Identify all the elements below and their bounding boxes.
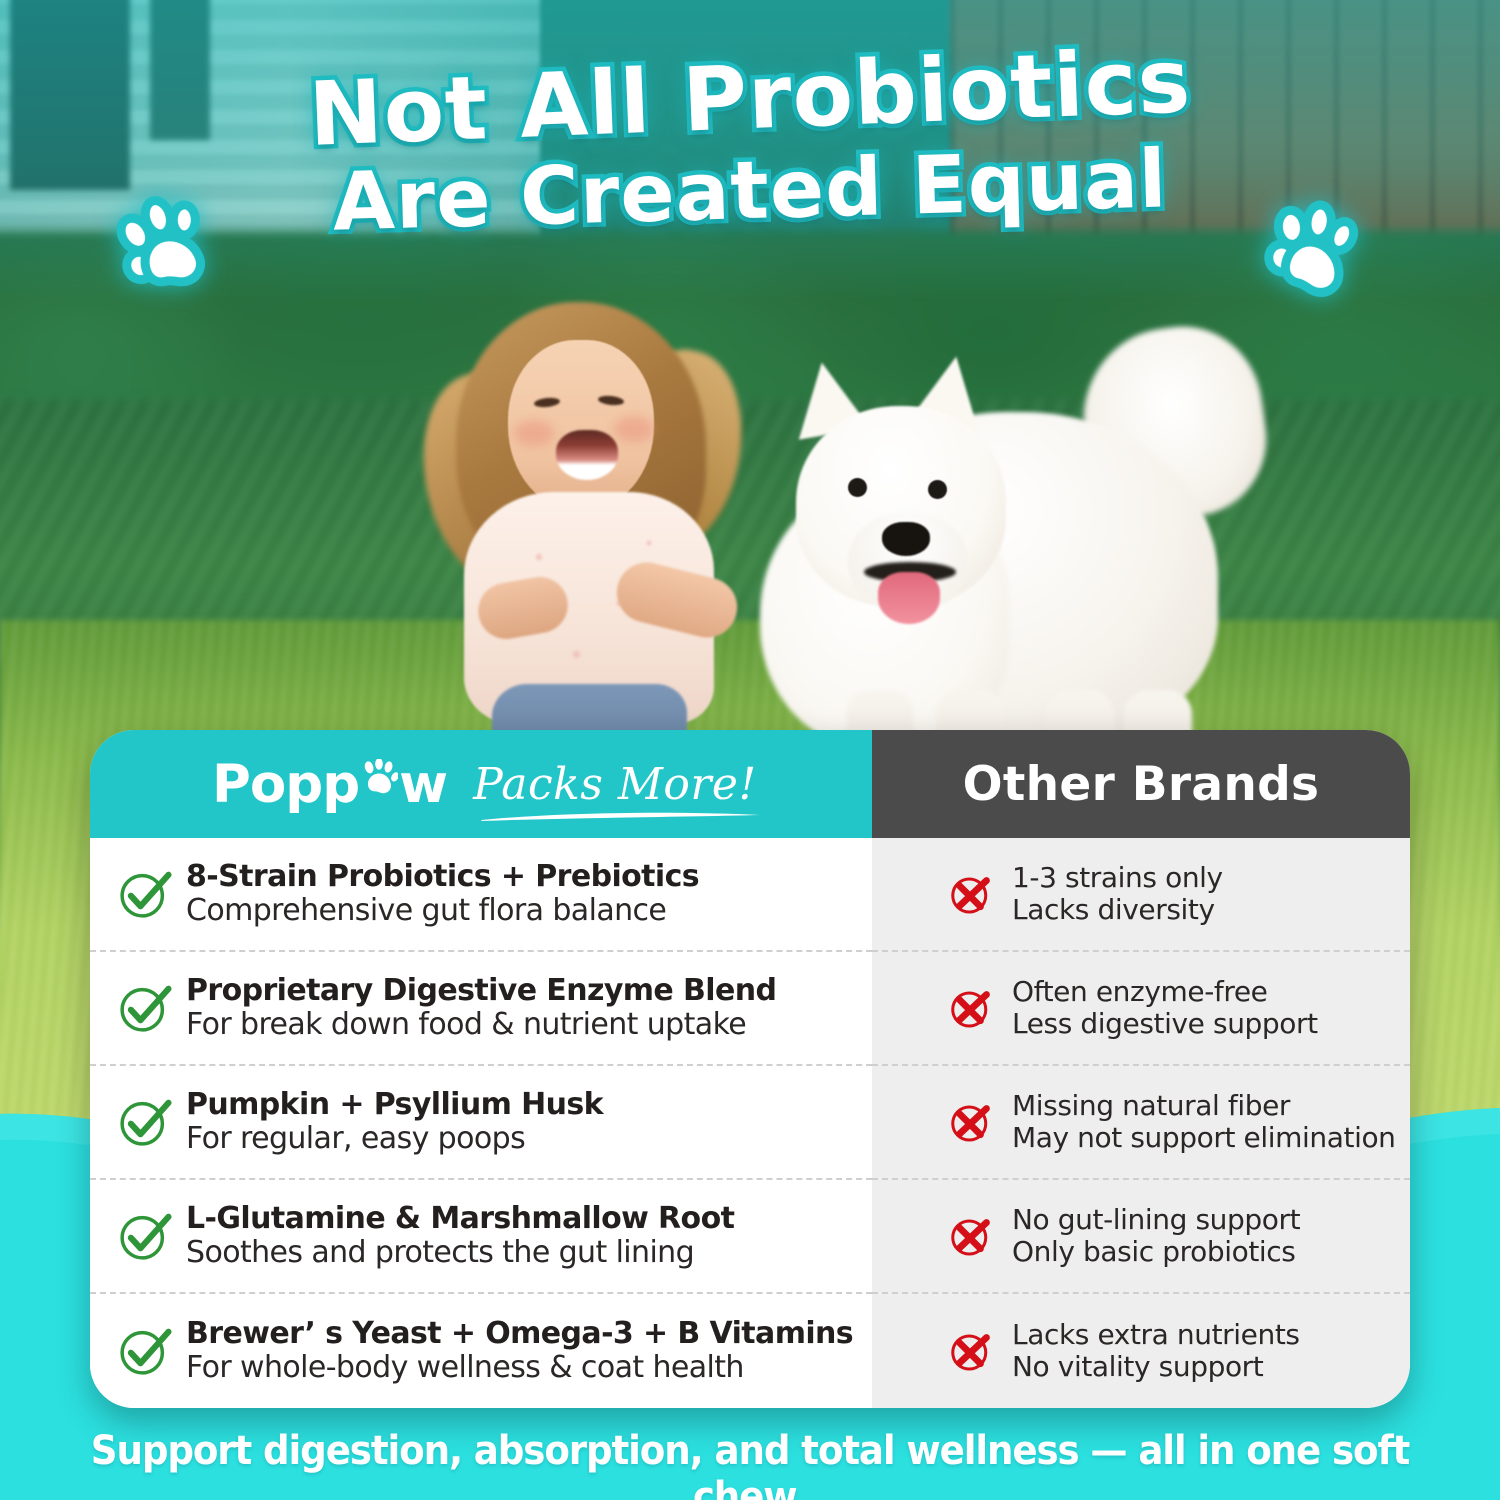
competitor-line-1: 1-3 strains only — [1012, 862, 1223, 894]
competitor-header: Other Brands — [872, 730, 1410, 838]
brand-tagline-wrap: Packs More! — [473, 759, 757, 810]
feature-text: 8-Strain Probiotics + Prebiotics Compreh… — [186, 860, 699, 928]
x-circle-icon — [946, 1098, 994, 1146]
competitor-line-2: Only basic probiotics — [1012, 1236, 1300, 1268]
feature-title: Proprietary Digestive Enzyme Blend — [186, 974, 776, 1008]
x-circle-icon — [946, 870, 994, 918]
dog-eye-left — [848, 478, 867, 497]
brand-logo: Popp w — [212, 754, 447, 815]
feature-subtitle: Soothes and protects the gut lining — [186, 1236, 734, 1270]
infographic-stage: Not All Probiotics Are Created Equal — [0, 0, 1500, 1500]
competitor-line-1: No gut-lining support — [1012, 1204, 1300, 1236]
table-row: Missing natural fiber May not support el… — [872, 1066, 1410, 1180]
brand-tagline: Packs More! — [473, 759, 757, 810]
table-row: Often enzyme-free Less digestive support — [872, 952, 1410, 1066]
check-circle-icon — [116, 1208, 172, 1264]
tagline-underline-swoosh — [479, 810, 763, 822]
x-circle-icon — [946, 984, 994, 1032]
table-row: No gut-lining support Only basic probiot… — [872, 1180, 1410, 1294]
dog-nose — [882, 522, 930, 556]
dog-tongue — [878, 572, 940, 624]
table-row: Lacks extra nutrients No vitality suppor… — [872, 1294, 1410, 1408]
girl-smile — [556, 430, 618, 480]
feature-subtitle: For whole-body wellness & coat health — [186, 1351, 853, 1385]
table-row: Brewer’ s Yeast + Omega-3 + B Vitamins F… — [90, 1294, 872, 1408]
check-circle-icon — [116, 866, 172, 922]
feature-subtitle: Comprehensive gut flora balance — [186, 894, 699, 928]
feature-text: Brewer’ s Yeast + Omega-3 + B Vitamins F… — [186, 1317, 853, 1385]
brand-logo-text-part2: w — [399, 754, 447, 815]
girl-cheek-right — [614, 416, 654, 442]
competitor-title: Other Brands — [963, 757, 1320, 812]
feature-subtitle: For regular, easy poops — [186, 1122, 603, 1156]
competitor-line-1: Lacks extra nutrients — [1012, 1319, 1300, 1351]
paw-print-icon — [360, 759, 398, 797]
comparison-card: Popp w Packs More! — [90, 730, 1410, 1408]
competitor-line-2: No vitality support — [1012, 1351, 1300, 1383]
competitor-line-2: Lacks diversity — [1012, 894, 1223, 926]
table-row: 8-Strain Probiotics + Prebiotics Compreh… — [90, 838, 872, 952]
competitor-text: No gut-lining support Only basic probiot… — [1012, 1204, 1300, 1268]
dog-eye-right — [928, 480, 947, 499]
feature-subtitle: For break down food & nutrient uptake — [186, 1008, 776, 1042]
brand-logo-text-part1: Popp — [212, 754, 359, 815]
feature-text: L-Glutamine & Marshmallow Root Soothes a… — [186, 1202, 734, 1270]
table-row: Pumpkin + Psyllium Husk For regular, eas… — [90, 1066, 872, 1180]
competitor-line-1: Missing natural fiber — [1012, 1090, 1396, 1122]
girl-cheek-left — [514, 420, 554, 446]
comparison-card-body: 8-Strain Probiotics + Prebiotics Compreh… — [90, 838, 1410, 1408]
feature-title: Pumpkin + Psyllium Husk — [186, 1088, 603, 1122]
competitor-column: 1-3 strains only Lacks diversity Often e… — [872, 838, 1410, 1408]
check-circle-icon — [116, 980, 172, 1036]
footer-banner: Support digestion, absorption, and total… — [0, 1428, 1500, 1500]
table-row: L-Glutamine & Marshmallow Root Soothes a… — [90, 1180, 872, 1294]
table-row: Proprietary Digestive Enzyme Blend For b… — [90, 952, 872, 1066]
feature-text: Pumpkin + Psyllium Husk For regular, eas… — [186, 1088, 603, 1156]
competitor-text: Missing natural fiber May not support el… — [1012, 1090, 1396, 1154]
competitor-line-1: Often enzyme-free — [1012, 976, 1318, 1008]
comparison-card-header: Popp w Packs More! — [90, 730, 1410, 838]
footer-text: Support digestion, absorption, and total… — [53, 1428, 1448, 1500]
table-row: 1-3 strains only Lacks diversity — [872, 838, 1410, 952]
competitor-text: Often enzyme-free Less digestive support — [1012, 976, 1318, 1040]
feature-text: Proprietary Digestive Enzyme Blend For b… — [186, 974, 776, 1042]
feature-title: L-Glutamine & Marshmallow Root — [186, 1202, 734, 1236]
check-circle-icon — [116, 1323, 172, 1379]
competitor-text: 1-3 strains only Lacks diversity — [1012, 862, 1223, 926]
competitor-line-2: Less digestive support — [1012, 1008, 1318, 1040]
samoyed-dog — [700, 300, 1260, 770]
competitor-line-2: May not support elimination — [1012, 1122, 1396, 1154]
competitor-text: Lacks extra nutrients No vitality suppor… — [1012, 1319, 1300, 1383]
feature-title: Brewer’ s Yeast + Omega-3 + B Vitamins — [186, 1317, 853, 1351]
feature-title: 8-Strain Probiotics + Prebiotics — [186, 860, 699, 894]
x-circle-icon — [946, 1327, 994, 1375]
brand-header: Popp w Packs More! — [90, 730, 872, 838]
check-circle-icon — [116, 1094, 172, 1150]
brand-feature-column: 8-Strain Probiotics + Prebiotics Compreh… — [90, 838, 872, 1408]
x-circle-icon — [946, 1212, 994, 1260]
paw-print-icon — [1253, 187, 1372, 306]
